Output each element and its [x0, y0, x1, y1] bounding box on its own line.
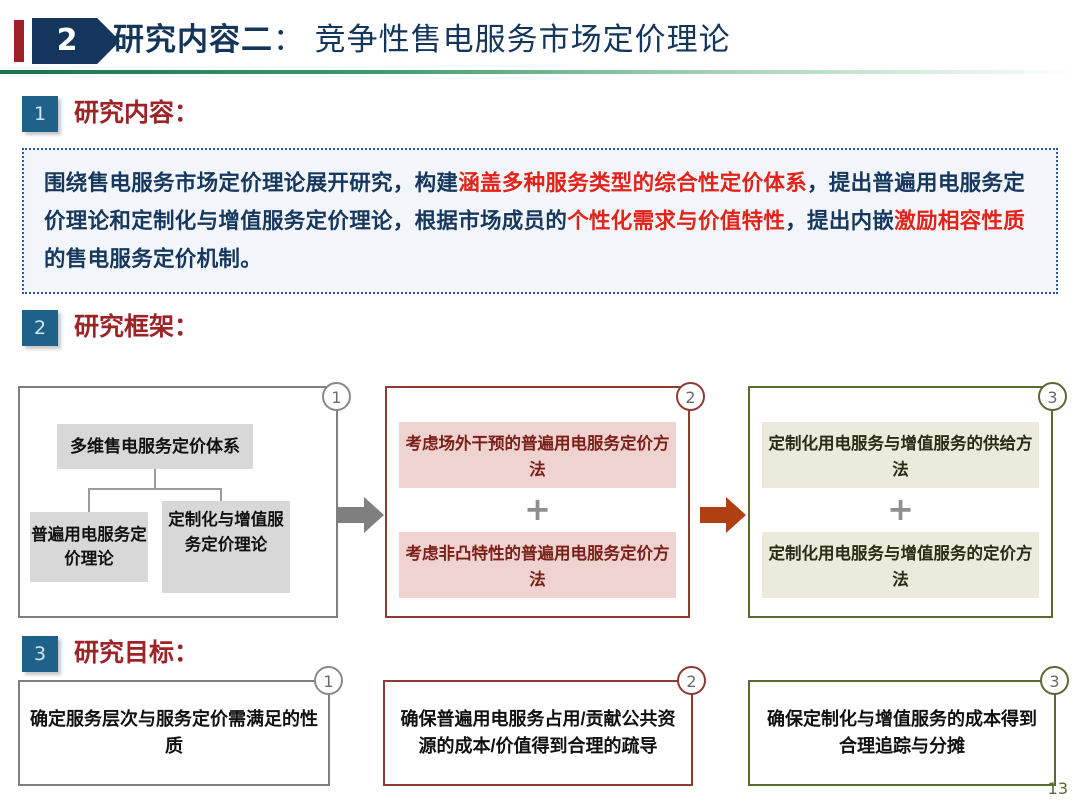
goal-badge-3: 3 [1040, 666, 1069, 695]
goal-box-3: 确保定制化与增值服务的成本得到合理追踪与分摊 [748, 680, 1056, 786]
framework-col1-right-box: 定制化与增值服务定价理论 [162, 501, 290, 593]
connector-vertical-stem [154, 469, 156, 489]
page-title-bold: 研究内容二 [113, 22, 273, 57]
framework-col2-box-a: 考虑场外干预的普遍用电服务定价方法 [399, 422, 676, 488]
framework-col3-box-b: 定制化用电服务与增值服务的定价方法 [762, 532, 1039, 598]
slide-header: 2 研究内容二： 竞争性售电服务市场定价理论 [0, 0, 1080, 78]
paragraph-part-3: ，提出内嵌 [785, 209, 894, 233]
research-content-paragraph: 围绕售电服务市场定价理论展开研究，构建涵盖多种服务类型的综合性定价体系，提出普遍… [44, 164, 1036, 278]
framework-col1-left-box: 普遍用电服务定价理论 [30, 512, 148, 582]
connector-left-drop [88, 488, 90, 512]
goal-badge-1: 1 [314, 666, 343, 695]
connector-right-drop [220, 488, 222, 501]
framework-col2-box-b: 考虑非凸特性的普遍用电服务定价方法 [399, 532, 676, 598]
paragraph-highlight-2: 个性化需求与价值特性 [567, 209, 785, 233]
header-red-accent-bar [14, 20, 24, 62]
framework-col1-badge: 1 [322, 382, 351, 411]
paragraph-highlight-3: 激励相容性质 [894, 209, 1025, 233]
page-title: 研究内容二： 竞争性售电服务市场定价理论 [113, 14, 731, 59]
section-3-title: 研究目标： [74, 635, 199, 671]
page-title-rest: ： 竞争性售电服务市场定价理论 [273, 22, 731, 57]
framework-column-2: 考虑场外干预的普遍用电服务定价方法 + 考虑非凸特性的普遍用电服务定价方法 [385, 386, 690, 618]
framework-col2-plus: + [387, 492, 688, 526]
paragraph-part-1: 围绕售电服务市场定价理论展开研究，构建 [44, 171, 458, 195]
section-1-title: 研究内容： [74, 95, 199, 131]
goal-badge-2: 2 [677, 666, 706, 695]
framework-col2-badge: 2 [676, 382, 705, 411]
research-framework-diagram: 多维售电服务定价体系 普遍用电服务定价理论 定制化与增值服务定价理论 计及多维服… [0, 352, 1080, 624]
goal-box-1: 确定服务层次与服务定价需满足的性质 [18, 680, 330, 786]
research-goals-row: 确定服务层次与服务定价需满足的性质 1 确保普遍用电服务占用/贡献公共资源的成本… [0, 680, 1080, 800]
framework-col3-box-a: 定制化用电服务与增值服务的供给方法 [762, 422, 1039, 488]
section-2-number: 2 [22, 310, 58, 346]
paragraph-highlight-1: 涵盖多种服务类型的综合性定价体系 [458, 171, 807, 195]
research-content-panel: 围绕售电服务市场定价理论展开研究，构建涵盖多种服务类型的综合性定价体系，提出普遍… [22, 148, 1058, 294]
framework-column-3: 定制化用电服务与增值服务的供给方法 + 定制化用电服务与增值服务的定价方法 [748, 386, 1053, 618]
page-number: 13 [1048, 779, 1068, 798]
framework-col3-plus: + [750, 492, 1051, 526]
arrow-col1-to-col2 [338, 495, 384, 535]
framework-col3-badge: 3 [1038, 382, 1067, 411]
section-3-number: 3 [22, 636, 58, 672]
framework-column-1: 多维售电服务定价体系 普遍用电服务定价理论 定制化与增值服务定价理论 [18, 386, 338, 618]
header-green-rule [0, 70, 1080, 74]
framework-col1-top-box: 多维售电服务定价体系 [57, 424, 253, 469]
connector-horizontal [88, 488, 222, 490]
section-2-title: 研究框架： [74, 309, 199, 345]
goal-box-2: 确保普遍用电服务占用/贡献公共资源的成本/价值得到合理的疏导 [383, 680, 693, 786]
paragraph-part-4: 的售电服务定价机制。 [44, 247, 262, 271]
section-1-number: 1 [22, 96, 58, 132]
header-section-number-badge: 2 [32, 18, 120, 64]
arrow-col2-to-col3 [700, 495, 746, 535]
